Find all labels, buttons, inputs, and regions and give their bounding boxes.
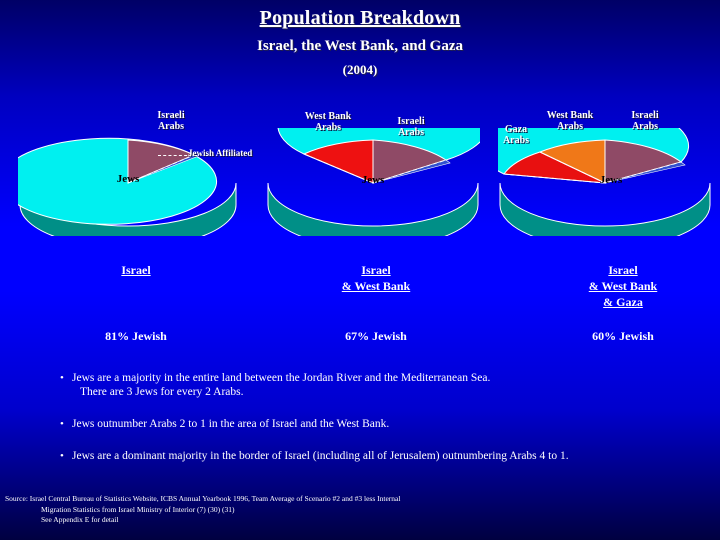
pie-chart-israel-west-bank-gaza: Gaza Arabs West Bank Arabs Israeli Arabs… (498, 128, 712, 236)
pie-iwbg-label-west-bank-arabs: West Bank Arabs (530, 110, 610, 132)
label-line-2: Arabs (503, 135, 529, 146)
caption-israel-west-bank: Israel & West Bank (306, 262, 446, 294)
label-line-2: Arabs (557, 121, 583, 132)
percent-israel-west-bank: 67% Jewish (306, 329, 446, 344)
label-line-2: Arabs (632, 121, 658, 132)
caption-line: Israel (361, 263, 390, 277)
label-line-1: Israeli (397, 116, 424, 127)
pie-iwb-label-jews: Jews (338, 174, 408, 186)
caption-line: & West Bank (342, 279, 410, 293)
bullet-item: • Jews outnumber Arabs 2 to 1 in the are… (58, 418, 683, 432)
source-line-2: Migration Statistics from Israel Ministr… (5, 505, 665, 516)
caption-line: Israel (608, 263, 637, 277)
pie-israel-label-jewish-affiliated: Jewish Affiliated (188, 148, 278, 159)
page-subtitle: Israel, the West Bank, and Gaza (0, 38, 720, 55)
pie-iwb-label-west-bank-arabs: West Bank Arabs (288, 111, 368, 133)
pie-iwb-label-israeli-arabs: Israeli Arabs (376, 116, 446, 138)
pie-chart-israel: Israeli Arabs Jewish Affiliated Jews (18, 128, 238, 236)
bullet-text-line-1: Jews are a dominant majority in the bord… (72, 450, 569, 462)
source-line-3: See Appendix E for detail (5, 515, 665, 526)
pie-israel-label-israeli-arabs: Israeli Arabs (136, 110, 206, 132)
bullet-text-line-1: Jews are a majority in the entire land b… (72, 372, 490, 384)
caption-line: & West Bank (589, 279, 657, 293)
pie-iwbg-label-israeli-arabs: Israeli Arabs (610, 110, 680, 132)
page-title: Population Breakdown (0, 7, 720, 30)
caption-line: & Gaza (603, 295, 643, 309)
page-year: (2004) (0, 62, 720, 78)
source-line-1: Source: Israel Central Bureau of Statist… (5, 494, 665, 505)
label-line-2: Arabs (315, 122, 341, 133)
bullet-text-line-2: There are 3 Jews for every 2 Arabs. (72, 386, 683, 400)
caption-israel-west-bank-gaza: Israel & West Bank & Gaza (553, 262, 693, 310)
slide-canvas: Population Breakdown Israel, the West Ba… (0, 0, 720, 540)
pie-iwbg-label-jews: Jews (576, 174, 646, 186)
label-line-1: Israeli (157, 110, 184, 121)
label-line-2: Arabs (398, 127, 424, 138)
pie-chart-israel-west-bank: West Bank Arabs Israeli Arabs Jews (266, 128, 480, 236)
label-line-1: West Bank (547, 110, 593, 121)
bullet-dot-icon: • (60, 372, 64, 386)
percent-israel-west-bank-gaza: 60% Jewish (553, 329, 693, 344)
percent-israel: 81% Jewish (66, 329, 206, 344)
caption-israel: Israel (66, 262, 206, 278)
source-note: Source: Israel Central Bureau of Statist… (5, 494, 665, 526)
label-line-1: Gaza (505, 124, 527, 135)
bullet-item: • Jews are a dominant majority in the bo… (58, 450, 683, 464)
label-line-1: Israeli (631, 110, 658, 121)
bullet-dot-icon: • (60, 418, 64, 432)
bullet-item: • Jews are a majority in the entire land… (58, 372, 683, 399)
bullet-dot-icon: • (60, 450, 64, 464)
bullet-text-line-1: Jews outnumber Arabs 2 to 1 in the area … (72, 418, 389, 430)
caption-line: Israel (121, 263, 150, 277)
pie-israel-label-jews: Jews (93, 173, 163, 185)
bullet-list: • Jews are a majority in the entire land… (58, 372, 683, 474)
label-line-1: West Bank (305, 111, 351, 122)
label-line-2: Arabs (158, 121, 184, 132)
